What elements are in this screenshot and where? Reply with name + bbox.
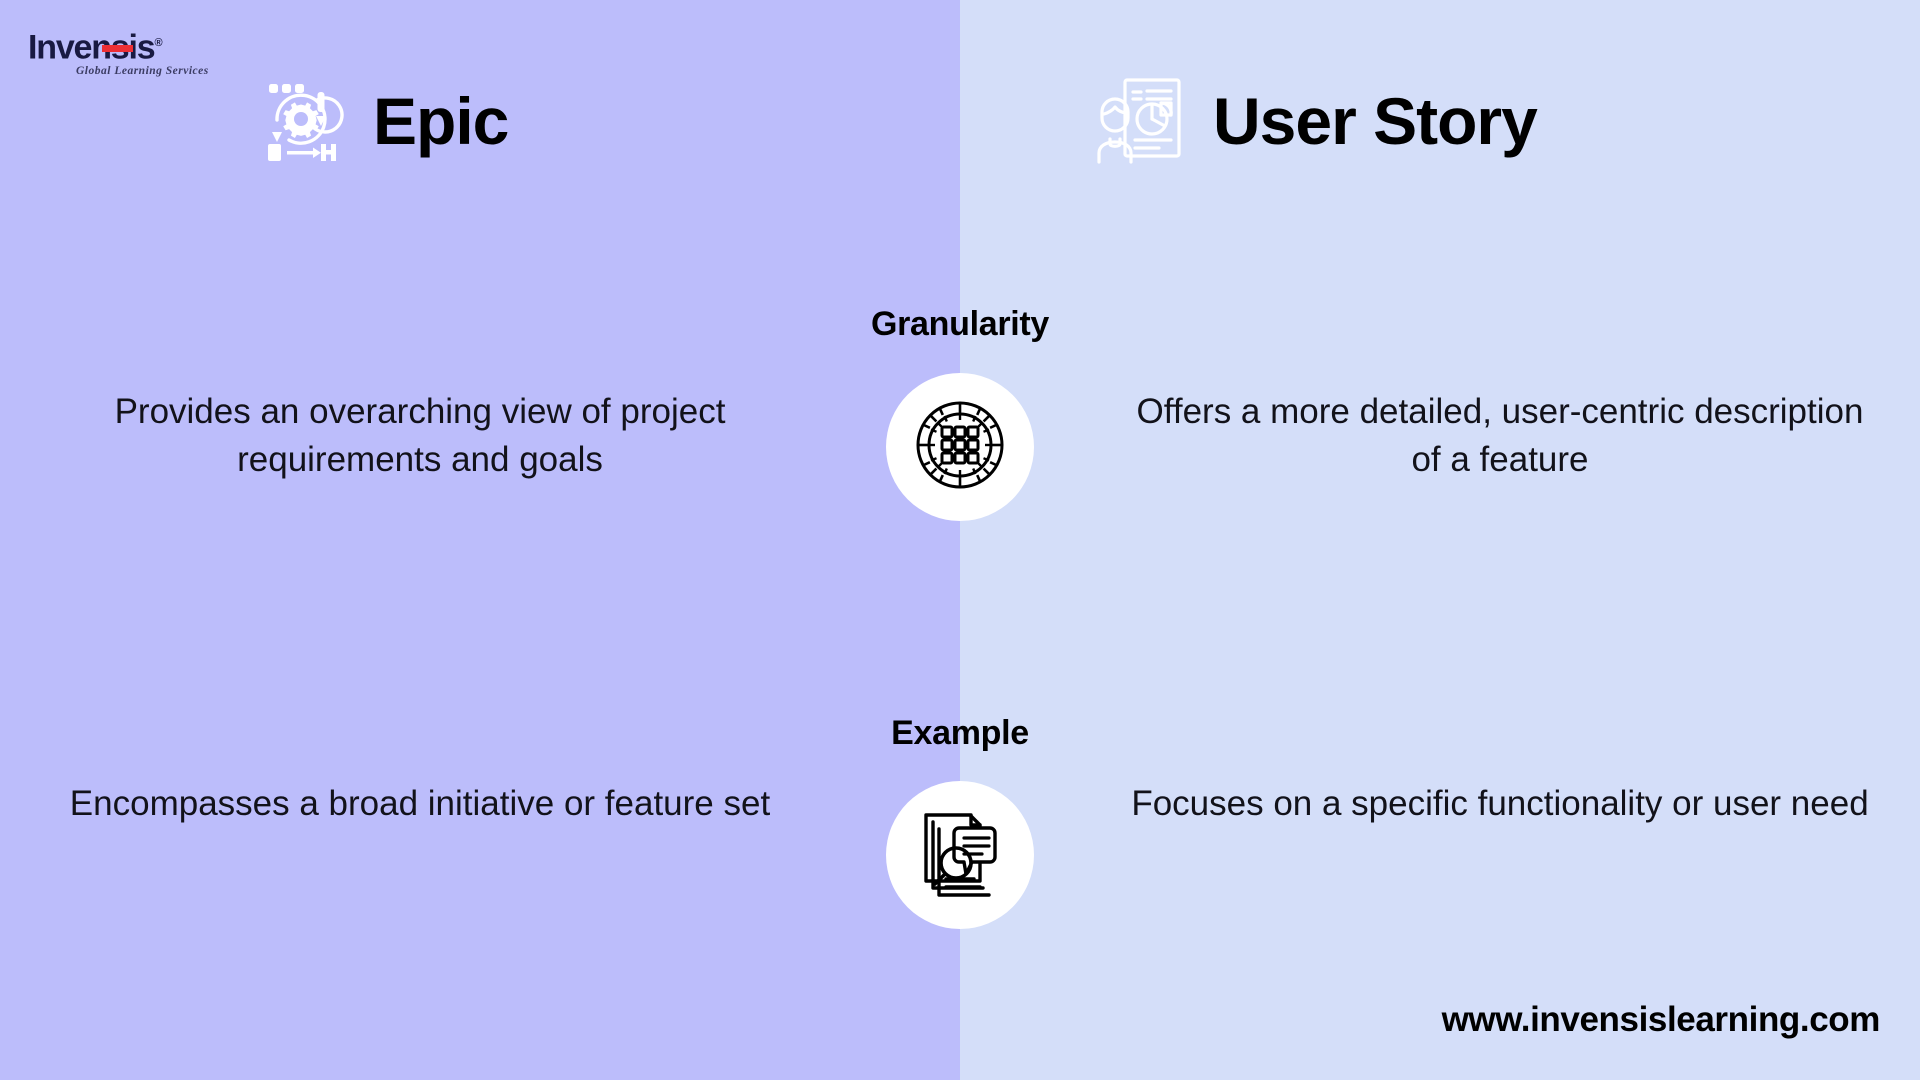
example-badge (886, 781, 1034, 929)
user-story-granularity-text: Offers a more detailed, user-centric des… (1120, 388, 1880, 485)
epic-gear-process-icon (255, 72, 347, 169)
logo-tagline: Global Learning Services (76, 65, 228, 77)
user-story-column-header: User Story (1095, 72, 1537, 169)
user-story-example-text: Focuses on a specific functionality or u… (1120, 780, 1880, 828)
granularity-dial-grid-icon (908, 393, 1012, 502)
invensis-logo: Invensis® Global Learning Services (28, 26, 228, 74)
website-url[interactable]: www.invensislearning.com (1442, 1000, 1880, 1040)
registered-trademark-icon: ® (154, 37, 162, 49)
example-document-search-icon (910, 803, 1010, 908)
infographic-canvas: Invensis® Global Learning Services (0, 0, 1920, 1080)
user-story-title: User Story (1213, 88, 1537, 154)
epic-example-text: Encompasses a broad initiative or featur… (60, 780, 780, 828)
user-story-person-report-icon (1095, 72, 1187, 169)
epic-granularity-text: Provides an overarching view of project … (60, 388, 780, 485)
epic-column-header: Epic (255, 72, 508, 169)
logo-red-bar (102, 45, 133, 52)
granularity-badge (886, 373, 1034, 521)
section-label-granularity: Granularity (871, 305, 1049, 344)
epic-title: Epic (373, 88, 508, 154)
logo-wordmark-text: Invensis (28, 28, 154, 66)
section-label-example: Example (891, 714, 1029, 753)
logo-wordmark: Invensis® (28, 26, 228, 64)
